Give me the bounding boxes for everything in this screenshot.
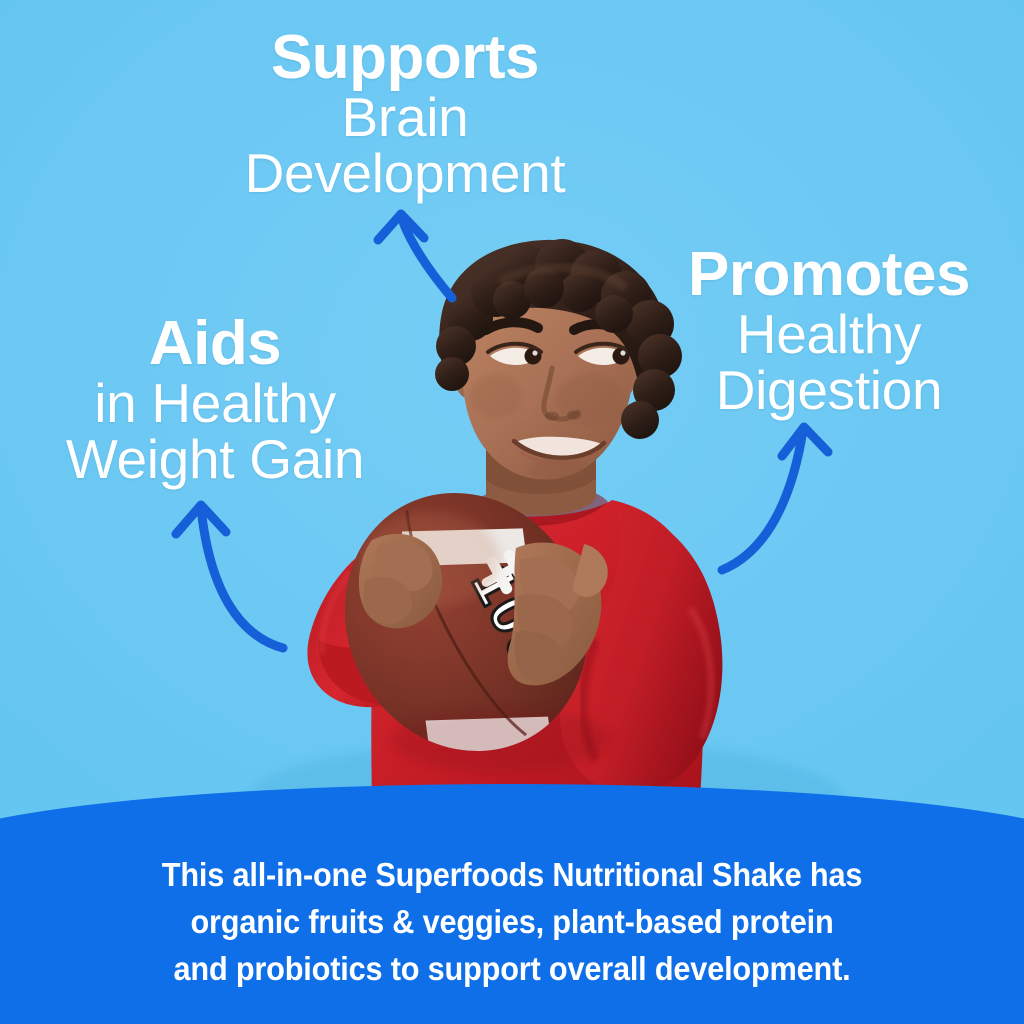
- arrow-to-brain-icon: [378, 214, 452, 298]
- benefit-brain-lead: Supports: [190, 26, 620, 89]
- banner-line-3: and probiotics to support overall develo…: [36, 946, 988, 993]
- arrow-to-weight-icon: [176, 505, 283, 648]
- benefit-brain-line2: Development: [190, 145, 620, 201]
- svg-text:100: 100: [459, 555, 565, 676]
- benefit-weight-line2: Weight Gain: [30, 431, 400, 487]
- benefit-weight-line1: in Healthy: [30, 375, 400, 431]
- banner-line-2: organic fruits & veggies, plant-based pr…: [36, 899, 988, 946]
- benefit-weight-gain: Aids in Healthy Weight Gain: [30, 312, 400, 487]
- benefit-digestion-line2: Digestion: [640, 362, 1018, 418]
- left-hand: [359, 534, 442, 628]
- right-hand: [508, 542, 608, 685]
- football: 100: [300, 450, 632, 802]
- benefit-digestion-lead: Promotes: [640, 243, 1018, 306]
- benefit-healthy-digestion: Promotes Healthy Digestion: [640, 243, 1018, 418]
- red-sweatshirt: [307, 486, 722, 800]
- banner-line-1: This all-in-one Superfoods Nutritional S…: [36, 852, 988, 899]
- arrow-to-digestion-icon: [722, 427, 828, 570]
- product-description-banner: This all-in-one Superfoods Nutritional S…: [0, 784, 1024, 1024]
- face: [462, 252, 634, 482]
- advertisement-canvas: 100: [0, 0, 1024, 1024]
- benefit-weight-lead: Aids: [30, 312, 400, 375]
- banner-copy: This all-in-one Superfoods Nutritional S…: [36, 852, 988, 993]
- benefit-digestion-line1: Healthy: [640, 306, 1018, 362]
- benefit-brain-development: Supports Brain Development: [190, 26, 620, 201]
- benefit-brain-line1: Brain: [190, 89, 620, 145]
